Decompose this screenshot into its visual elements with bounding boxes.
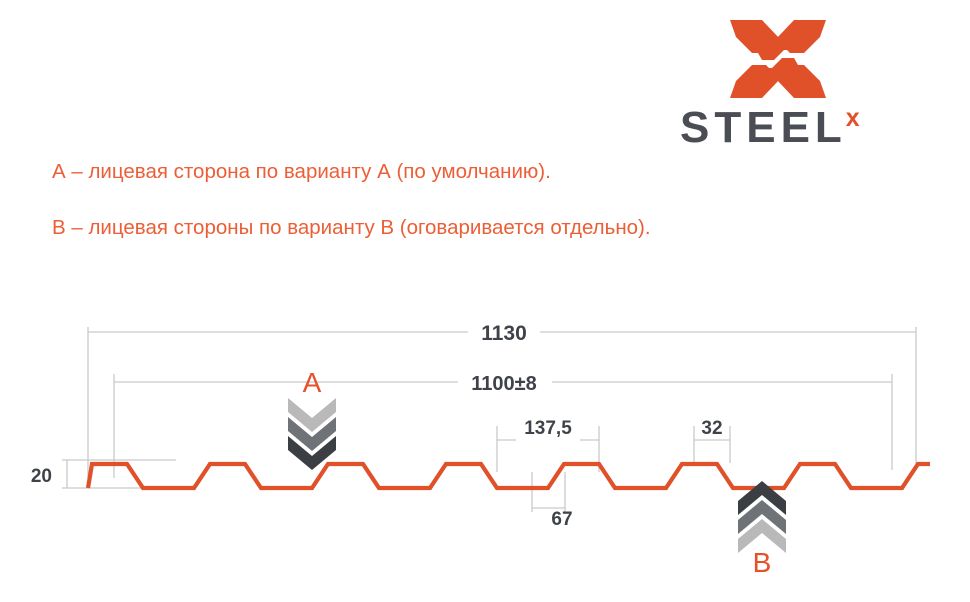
marker-a-letter: А xyxy=(303,367,322,398)
wordmark-superscript-x: x xyxy=(846,106,860,131)
dimension-label-crest-top: 32 xyxy=(701,418,722,439)
dimension-label-trough-bottom: 67 xyxy=(551,509,572,530)
profile-technical-drawing: 1130 1100±8 137,5 32 67 20 А xyxy=(0,300,970,597)
marker-b-chevrons xyxy=(738,481,786,553)
note-variant-a: А – лицевая сторона по варианту А (по ум… xyxy=(52,160,551,184)
sheet-profile-line xyxy=(88,464,930,488)
marker-variant-b: В xyxy=(738,481,786,578)
wordmark-steel-text: STEEL xyxy=(680,106,847,150)
brand-logo: STEEL x xyxy=(680,14,910,149)
dimension-label-overall-width: 1130 xyxy=(481,322,527,345)
dimension-overall-width xyxy=(88,327,916,478)
dimension-label-pitch: 137,5 xyxy=(524,418,572,439)
dimension-trough-bottom xyxy=(532,472,565,512)
dimension-label-working-width: 1100±8 xyxy=(471,373,537,395)
marker-a-chevrons xyxy=(288,398,336,470)
steelx-wordmark: STEEL x xyxy=(680,106,910,152)
note-variant-b: В – лицевая стороны по варианту В (огова… xyxy=(52,216,651,240)
steelx-x-logo-mark xyxy=(728,14,828,109)
marker-b-letter: В xyxy=(753,547,772,578)
dimension-label-height: 20 xyxy=(31,466,52,487)
